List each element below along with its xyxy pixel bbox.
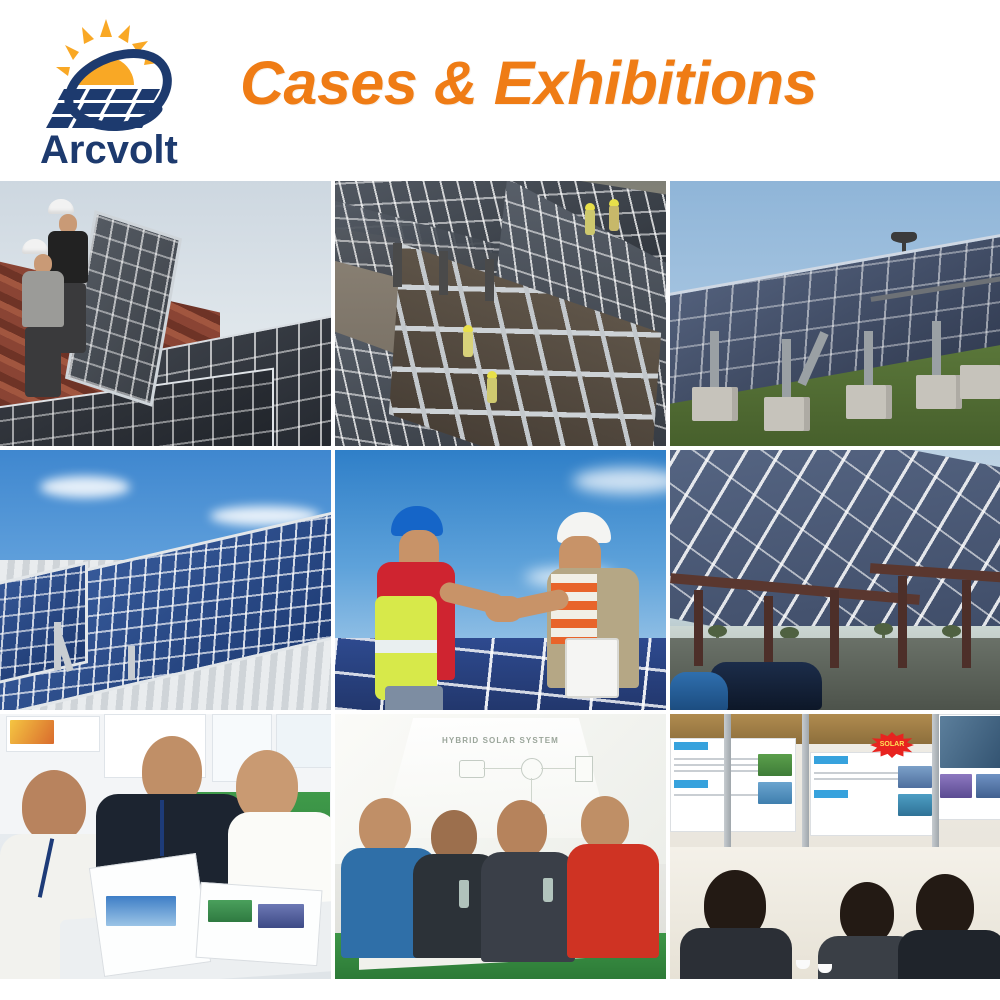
brand-wordmark: Arcvolt (40, 128, 178, 168)
catalogue-image (106, 896, 176, 926)
support-post (864, 331, 873, 393)
steel-column (898, 576, 907, 668)
page-title: Cases & Exhibitions (240, 48, 817, 118)
slide-title: HYBRID SOLAR SYSTEM (335, 736, 666, 745)
attendee-body (567, 844, 659, 958)
board-thumbnail (758, 754, 792, 776)
support-post (710, 331, 719, 391)
gallery-item-ground-mount-array[interactable] (670, 181, 1000, 446)
gallery-item-hybrid-solar-presentation[interactable]: HYBRID SOLAR SYSTEM (335, 714, 666, 979)
gallery-item-solar-carport[interactable] (670, 450, 1000, 710)
gallery-item-aerial-utility-array[interactable] (335, 181, 666, 446)
board-text (814, 772, 906, 774)
gallery-item-exhibition-booth-negotiation[interactable]: SOLAR (670, 714, 1000, 979)
concrete-pier (846, 385, 892, 419)
board-thumbnail (976, 774, 1000, 798)
board-thumbnail (898, 766, 932, 788)
attendee-head (581, 796, 629, 850)
board-text (814, 778, 898, 780)
board-thumbnail (940, 774, 972, 798)
board-header-bar (814, 790, 848, 798)
concrete-pier (692, 387, 738, 421)
board-text (674, 794, 770, 796)
brand-logo[interactable]: Arcvolt (34, 13, 194, 168)
gallery-item-engineers-handshake[interactable] (335, 450, 666, 710)
board-header-bar (674, 742, 708, 750)
support-column (393, 243, 402, 287)
booth-pole (724, 714, 731, 864)
handshake-clasp (485, 596, 523, 622)
attendee-body (481, 852, 575, 962)
worker (609, 205, 619, 231)
gallery-item-tradeshow-booth-meeting[interactable] (0, 714, 331, 979)
worker (487, 377, 497, 403)
solar-panel-sun-swoosh-logo: Arcvolt (34, 13, 194, 168)
support-post (932, 321, 941, 379)
jeans (385, 686, 443, 710)
diagram-node-solar (459, 760, 485, 778)
visitor-body (680, 928, 792, 979)
diagram-node-inverter (521, 758, 543, 780)
parked-car (670, 672, 728, 710)
board-thumbnail (940, 716, 1000, 768)
board-text (674, 770, 766, 772)
diagram-node-battery (575, 756, 593, 782)
water-bottle (543, 878, 553, 902)
worker-lower (22, 239, 64, 397)
water-bottle (459, 880, 469, 908)
booth-pole (932, 714, 939, 864)
gallery-item-rooftop-installation[interactable] (0, 181, 331, 446)
board-thumbnail (898, 794, 932, 816)
steel-column (764, 596, 773, 670)
diagram-wire (483, 768, 521, 769)
image-gallery-grid: HYBRID SOLAR SYSTEM (0, 181, 1000, 971)
board-text (674, 758, 770, 760)
page-header: Arcvolt Cases & Exhibitions (0, 0, 1000, 180)
attendee-head (22, 770, 86, 842)
catalogue-image (208, 900, 252, 922)
board-header-bar (814, 756, 848, 764)
attendee-head (497, 800, 547, 858)
concrete-pier (916, 375, 962, 409)
laptop (565, 638, 619, 698)
diagram-wire (541, 768, 575, 769)
support-column (485, 259, 494, 301)
worker (463, 331, 473, 357)
gallery-item-metal-roof-array[interactable] (0, 450, 331, 710)
board-text (674, 764, 762, 766)
concrete-pier (764, 397, 810, 431)
steel-column (962, 580, 971, 668)
visitor-body (898, 930, 1000, 979)
board-thumbnail (758, 782, 792, 804)
cloud (40, 476, 130, 498)
support-column (439, 251, 448, 295)
lanyard (160, 800, 164, 856)
board-header-bar (674, 780, 708, 788)
reflective-band (375, 640, 437, 653)
steel-column (830, 590, 839, 668)
mounting-leg (128, 646, 135, 680)
concrete-pier (960, 365, 1000, 399)
catalogue-image (258, 904, 304, 928)
visitor-head (840, 882, 894, 944)
worker (585, 209, 595, 235)
support-post (782, 339, 791, 405)
poster-image (10, 720, 54, 744)
steel-column (694, 590, 703, 666)
